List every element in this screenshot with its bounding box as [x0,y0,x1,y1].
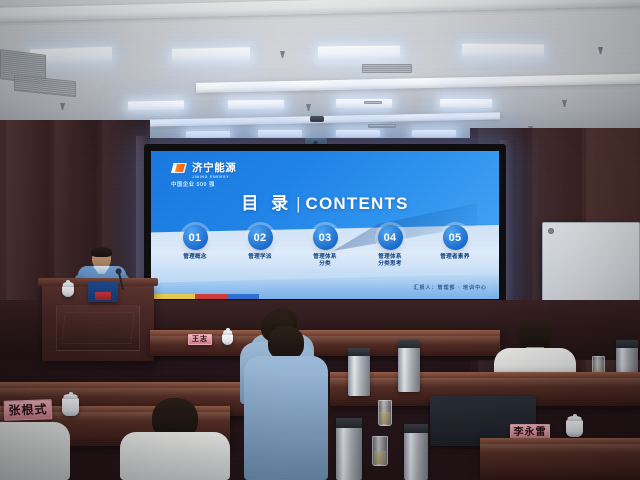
slide-title-separator: | [296,194,301,213]
taskbar-color-1 [151,294,195,299]
toc-item-05[interactable]: 05 管理者素养 [425,225,485,268]
ceiling-lamp-8 [440,99,492,108]
audience-person-5 [0,414,70,480]
sprinkler-3 [60,103,65,110]
ceiling-lamp-3 [318,46,400,60]
audience-person-6 [244,326,328,480]
air-vent-3 [362,64,412,73]
person-4-torso [120,432,230,480]
thermos-near-1 [336,418,362,480]
toc-number-03: 03 [313,225,338,250]
ceiling-lamp-11 [336,130,380,137]
laptop-badge [95,292,111,300]
toc-label-04: 管理体系 分类思考 [360,254,420,268]
toc-number-01: 01 [183,225,208,250]
thermos-mid-2 [348,348,370,396]
toc-item-03[interactable]: 03 管理体系 分类 [295,225,355,268]
toc-item-02[interactable]: 02 管理学派 [230,225,290,268]
ceiling-cove-light-1 [0,0,640,22]
brand-name-cn: 济宁能源 [192,163,236,174]
sprinkler-4 [306,104,311,111]
thermos-near-2 [404,424,428,480]
toc-label-01: 管理概念 [165,254,225,261]
slide-footer-text: 汇报人：管理部 · 培训中心 [414,284,487,291]
brand-logo: 济宁能源 JINING ENERGY 中国企业 500 强 [171,162,236,189]
ceiling-lamp-10 [258,130,302,137]
ceiling-cove-light-2 [196,73,640,93]
ceiling-cove-light-3 [150,112,500,126]
podium-front-panel [56,305,140,351]
thermos-mid-1 [398,340,420,392]
brand-name-en: JINING ENERGY [192,175,236,180]
brand-tagline: 中国企业 500 强 [171,182,236,189]
toc-label-02: 管理学派 [230,254,290,261]
toc-number-02: 02 [248,225,273,250]
person-5-torso [0,422,70,480]
sprinkler-5 [562,100,567,107]
person-6-torso [244,356,328,480]
audience-person-7 [486,320,578,440]
air-vent-2 [14,75,76,98]
ceiling-lamp-12 [412,130,456,137]
sprinkler-1 [280,51,285,58]
placard-far-1: 王志 [188,334,212,345]
taskbar-color-2 [195,294,227,299]
taskbar-strip [151,294,259,299]
toc-number-05: 05 [443,225,468,250]
jining-energy-logo-icon [171,162,188,174]
ceiling-lamp-2 [172,47,250,62]
sprinkler-2 [598,47,603,54]
ceiling-lamp-4 [462,44,544,58]
teacup-far-1 [222,334,233,345]
table-of-contents: 01 管理概念 02 管理学派 03 管理体系 分类 04 管理体系 分类思考 … [165,225,485,268]
slide-title: 目 录|CONTENTS [151,189,499,214]
toc-label-05: 管理者素养 [425,254,485,261]
air-vent-5 [364,101,382,104]
ceiling-projector [310,116,324,122]
toc-number-04: 04 [378,225,403,250]
slide-title-en: CONTENTS [306,194,409,213]
podium-laptop [88,282,118,302]
tea-glass-mid [378,400,392,426]
audience-person-4 [120,398,230,480]
air-vent-4 [368,124,396,128]
taskbar-color-3 [227,294,259,299]
slide-contents: 济宁能源 JINING ENERGY 中国企业 500 强 目 录|CONTEN… [151,151,499,299]
toc-item-01[interactable]: 01 管理概念 [165,225,225,268]
tea-glass-near [372,436,388,466]
slide-title-cn: 目 录 [241,194,292,213]
toc-label-03: 管理体系 分类 [295,254,355,268]
person-6-head [268,326,304,360]
speaker-hair [91,247,112,257]
ceiling-lamp-6 [228,100,284,110]
presentation-screen[interactable]: 济宁能源 JINING ENERGY 中国企业 500 强 目 录|CONTEN… [144,144,506,308]
conference-room-photo: 济宁能源 JINING ENERGY 中国企业 500 强 目 录|CONTEN… [0,0,640,480]
ceiling-lamp-5 [128,101,184,111]
desk-row-front-right [480,438,640,480]
toc-item-04[interactable]: 04 管理体系 分类思考 [360,225,420,268]
